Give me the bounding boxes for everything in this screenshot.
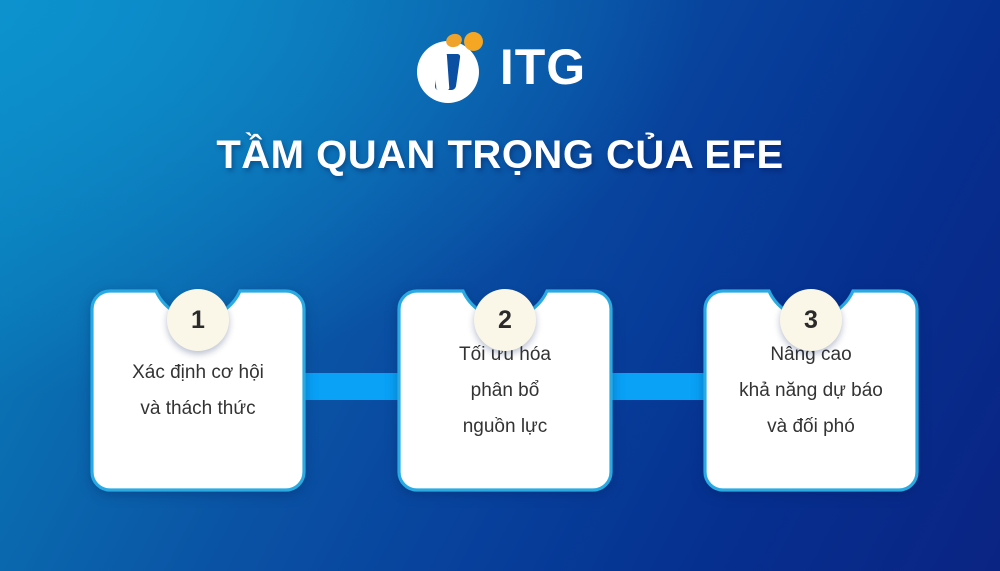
info-card-2-number-badge: 2: [474, 289, 536, 351]
logo-dot-large-icon: [464, 32, 483, 51]
info-card-2[interactable]: Tối ưu hóa phân bổ nguồn lực 2: [397, 289, 613, 492]
info-card-3[interactable]: Nâng cao khả năng dự báo và đối phó 3: [703, 289, 919, 492]
info-card-3-number-badge: 3: [780, 289, 842, 351]
page-title: TẦM QUAN TRỌNG CỦA EFE: [0, 133, 1000, 178]
connector-bar-2-3: [600, 373, 705, 400]
itg-circle-logo-icon: [414, 32, 486, 104]
info-card-1[interactable]: Xác định cơ hội và thách thức 1: [90, 289, 306, 492]
cards-row: Xác định cơ hội và thách thức 1 Tối ưu h…: [90, 236, 910, 492]
brand-wordmark: ITG: [500, 42, 586, 94]
infographic-canvas: ITG TẦM QUAN TRỌNG CỦA EFE Xác định cơ h…: [0, 0, 1000, 571]
info-card-1-number-badge: 1: [167, 289, 229, 351]
connector-bar-1-2: [295, 373, 400, 400]
brand-logo: ITG: [0, 30, 1000, 106]
